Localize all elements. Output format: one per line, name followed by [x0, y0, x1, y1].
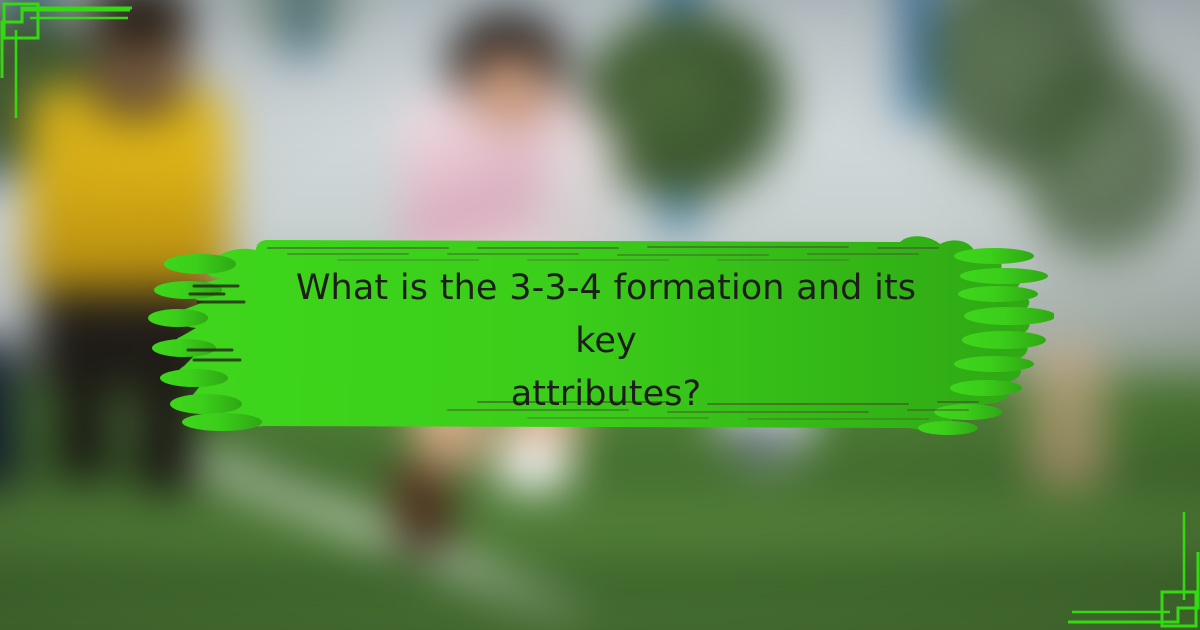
- player-shoe: [496, 440, 570, 490]
- background-player-fragment: [0, 340, 20, 490]
- question-banner: What is the 3-3-4 formation and its key …: [148, 190, 1054, 442]
- question-line-2: attributes?: [511, 374, 702, 414]
- question-line-1: What is the 3-3-4 formation and its key: [296, 268, 916, 361]
- question-card: What is the 3-3-4 formation and its key …: [0, 0, 1200, 630]
- player-head: [468, 52, 550, 128]
- player-hair: [88, 0, 192, 44]
- question-text: What is the 3-3-4 formation and its key …: [266, 262, 946, 422]
